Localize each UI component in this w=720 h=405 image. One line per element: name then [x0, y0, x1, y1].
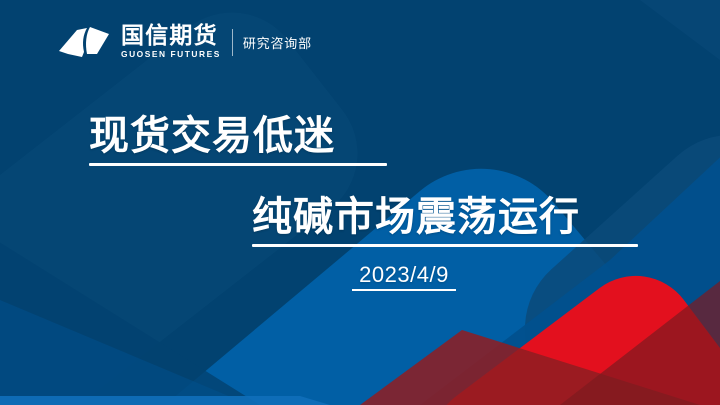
shape-triangle-red-right	[560, 250, 720, 405]
title-line-1-text: 现货交易低迷	[89, 113, 387, 159]
brand-department: 研究咨询部	[243, 33, 312, 52]
brand-name-cn: 国信期货	[121, 24, 221, 48]
shape-corner-top-right	[640, 0, 720, 60]
shape-triangle-red-dark	[360, 330, 700, 405]
shape-band-center	[0, 300, 250, 405]
shape-rounded-right-dark	[492, 102, 720, 405]
title-line-2-underline	[252, 244, 638, 247]
title-date: 2023/4/9	[352, 262, 456, 291]
guosen-diamond-logo-icon	[57, 21, 115, 63]
presentation-title-slide: 国信期货 GUOSEN FUTURES 研究咨询部 现货交易低迷 纯碱市场震荡运…	[0, 0, 720, 405]
brand-wordmark: 国信期货 GUOSEN FUTURES	[121, 24, 221, 59]
title-line-2: 纯碱市场震荡运行	[252, 194, 638, 247]
title-line-2-text: 纯碱市场震荡运行	[252, 194, 638, 240]
title-line-1: 现货交易低迷	[89, 113, 387, 166]
shape-bottom-strip	[0, 396, 330, 405]
title-date-underline	[352, 289, 456, 291]
brand-logo-bar: 国信期货 GUOSEN FUTURES 研究咨询部	[57, 20, 312, 64]
shape-triangle-left	[0, 230, 260, 405]
brand-divider	[232, 29, 233, 56]
title-date-text: 2023/4/9	[352, 262, 456, 287]
title-line-1-underline	[89, 163, 387, 166]
shape-wedge-right	[420, 120, 720, 405]
brand-name-en: GUOSEN FUTURES	[121, 49, 221, 60]
